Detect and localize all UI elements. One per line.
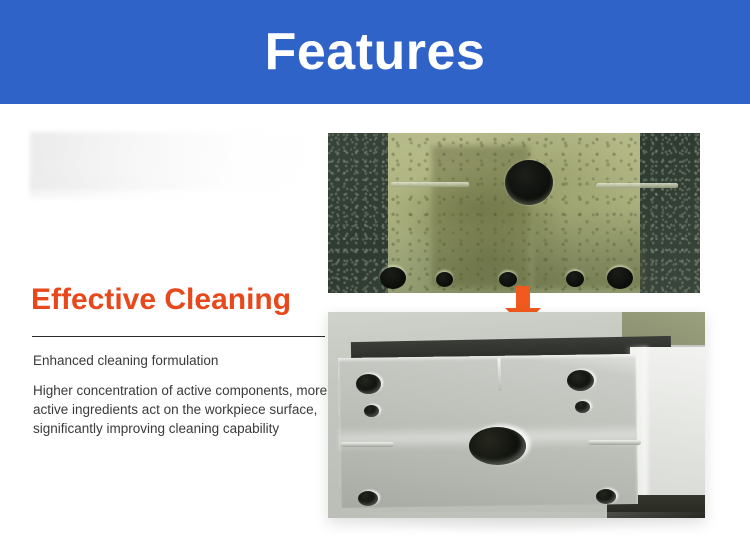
clean-plate-hole-mid-left xyxy=(364,405,379,417)
image-shadow-glow xyxy=(318,512,716,534)
feature-subtitle: Enhanced cleaning formulation xyxy=(33,352,333,370)
feature-body-text: Higher concentration of active component… xyxy=(33,381,329,438)
before-cleaning-image xyxy=(328,133,700,293)
plate-slot-right xyxy=(596,183,678,188)
clean-plate-hole-bottom-right xyxy=(596,489,616,504)
white-cloth xyxy=(630,347,705,499)
plate-slot-left xyxy=(391,182,469,187)
plate-hole-bottom-4 xyxy=(566,271,584,287)
clean-plate-hole-mid-right xyxy=(575,401,590,413)
heading-divider xyxy=(32,336,325,337)
clean-plate-hole-top-left xyxy=(356,374,381,394)
header-banner: Features xyxy=(0,0,750,104)
plate-hole-bottom-2 xyxy=(436,272,453,287)
faded-background-graphic-secondary xyxy=(30,176,230,198)
plate-hole-center-large xyxy=(505,160,553,205)
feature-heading: Effective Cleaning xyxy=(31,283,291,316)
after-cleaning-image xyxy=(328,312,705,518)
plate-ridge-mark xyxy=(497,358,501,391)
page-title: Features xyxy=(265,26,486,78)
clean-plate-slot-right xyxy=(588,440,641,445)
clean-plate-hole-top-right xyxy=(567,370,594,391)
clean-plate-slot-left xyxy=(341,442,394,447)
